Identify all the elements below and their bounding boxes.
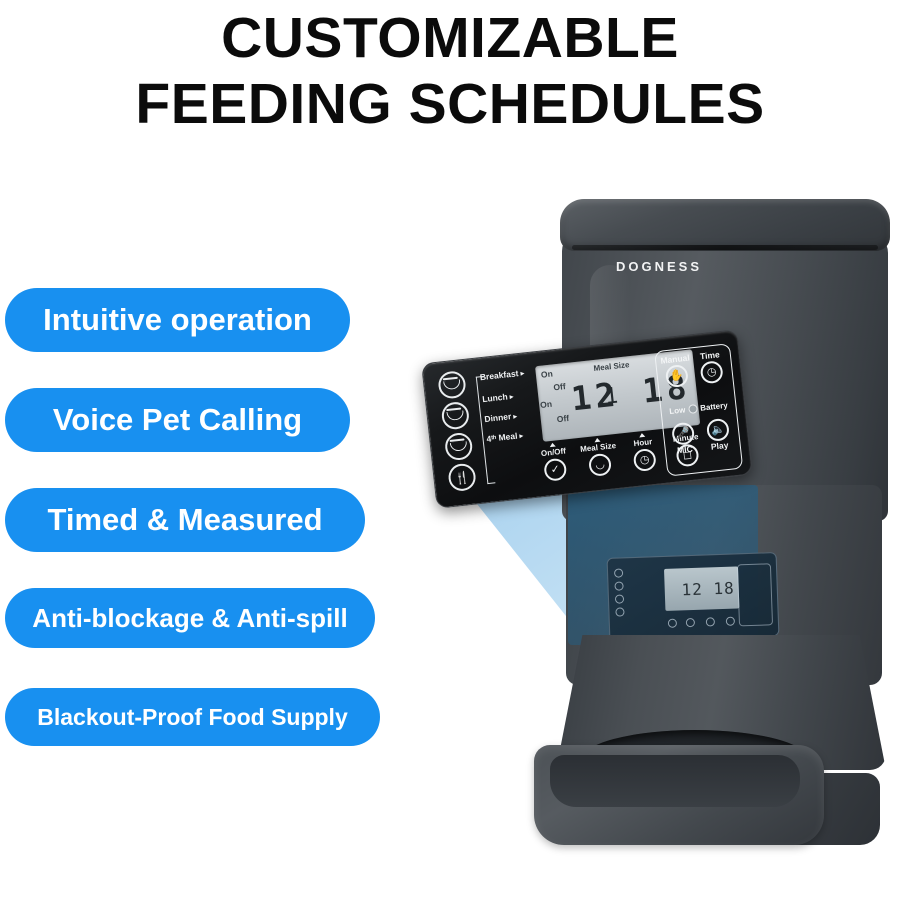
- manual-button[interactable]: Manual ✋: [658, 352, 695, 388]
- mini-lcd-screen: 12 18: [664, 566, 739, 611]
- lid-seam: [572, 245, 878, 250]
- meal-size-button[interactable]: Meal Size ◡: [574, 436, 624, 479]
- fork-knife-icon[interactable]: 🍴: [447, 462, 477, 492]
- lcd-on-1: On: [540, 368, 553, 379]
- page-title: CUSTOMIZABLE FEEDING SCHEDULES: [0, 8, 900, 135]
- lcd-off-1: Off: [553, 381, 566, 392]
- play-button[interactable]: 🔈 Play: [700, 416, 737, 452]
- mini-lcd-digits: 12 18: [681, 579, 735, 600]
- meal-size-marker-icon: [594, 438, 600, 443]
- right-control-cluster: Manual ✋ Time ◷ Low Battery 🎤 MIC 🔈: [654, 343, 743, 476]
- mini-onoff-button[interactable]: [668, 619, 677, 628]
- mini-right-cluster: [737, 563, 773, 626]
- feature-pill-label: Anti-blockage & Anti-spill: [32, 603, 347, 634]
- feature-pill-blackout-proof-food-supply: Blackout-Proof Food Supply: [5, 688, 380, 746]
- bowl-icon: ◡: [588, 453, 612, 477]
- hour-marker-icon: [639, 433, 645, 438]
- low-battery-low-label: Low: [669, 405, 686, 416]
- food-bowl-basin: [550, 755, 800, 807]
- onoff-marker-icon: [549, 443, 555, 448]
- lcd-on-2: On: [540, 399, 553, 410]
- onoff-button-label: On/Off: [530, 445, 577, 459]
- brand-logo: DOGNESS: [616, 259, 702, 274]
- mini-lunch-icon: [614, 581, 623, 590]
- feature-pill-label: Timed & Measured: [47, 502, 322, 538]
- feature-pill-anti-blockage-anti-spill: Anti-blockage & Anti-spill: [5, 588, 375, 648]
- meal-label-fourth-meal: 4ᵗʰ Meal: [486, 430, 524, 444]
- hour-button-label: Hour: [620, 436, 667, 450]
- hand-icon: ✋: [665, 364, 689, 388]
- hour-button[interactable]: Hour ◷: [619, 431, 669, 474]
- clock-icon: ◷: [633, 448, 657, 472]
- lunch-bowl-icon[interactable]: [440, 401, 470, 431]
- mic-button[interactable]: 🎤 MIC: [665, 420, 702, 456]
- clock-icon: ◷: [700, 360, 724, 384]
- mini-dinner-icon: [615, 594, 624, 603]
- low-battery-battery-label: Battery: [700, 401, 728, 413]
- lcd-off-2: Off: [556, 413, 569, 424]
- product-marketing-image: CUSTOMIZABLE FEEDING SCHEDULES Intuitive…: [0, 0, 900, 900]
- feature-pill-timed-measured: Timed & Measured: [5, 488, 365, 552]
- device-control-panel[interactable]: 12 18: [607, 552, 780, 642]
- headline-line-1: CUSTOMIZABLE: [0, 8, 900, 70]
- low-battery-indicator: Low Battery: [664, 400, 733, 416]
- mini-hour-button[interactable]: [706, 617, 715, 626]
- microphone-icon: 🎤: [671, 422, 695, 446]
- time-button-label: Time: [692, 349, 727, 363]
- feature-pill-label: Blackout-Proof Food Supply: [37, 704, 348, 731]
- feature-pill-voice-pet-calling: Voice Pet Calling: [5, 388, 350, 452]
- manual-button-label: Manual: [658, 352, 693, 366]
- feature-pill-intuitive-operation: Intuitive operation: [5, 288, 350, 352]
- mic-button-label: MIC: [667, 443, 702, 457]
- pet-feeder-product-image: DOGNESS 12 18: [520, 185, 900, 885]
- headline-line-2: FEEDING SCHEDULES: [0, 74, 900, 136]
- lcd-meal-size-label: Meal Size: [593, 360, 630, 373]
- check-circle-icon: ✓: [543, 458, 567, 482]
- play-button-label: Play: [702, 439, 737, 453]
- feeder-lid: [560, 199, 890, 251]
- dinner-bowl-icon[interactable]: [444, 432, 474, 462]
- feature-pill-label: Intuitive operation: [43, 302, 312, 338]
- meal-size-button-label: Meal Size: [575, 441, 622, 455]
- battery-led-icon: [688, 404, 698, 414]
- breakfast-bowl-icon[interactable]: [437, 370, 467, 400]
- mini-fourth-meal-icon: [615, 607, 624, 616]
- mini-breakfast-icon: [614, 568, 623, 577]
- time-button[interactable]: Time ◷: [692, 349, 729, 385]
- mini-minute-button[interactable]: [726, 617, 735, 626]
- meal-label-lunch: Lunch: [482, 391, 514, 404]
- onoff-button[interactable]: On/Off ✓: [530, 440, 580, 483]
- meal-label-dinner: Dinner: [484, 411, 518, 424]
- feature-pill-label: Voice Pet Calling: [53, 402, 302, 438]
- meal-label-breakfast: Breakfast: [479, 368, 525, 383]
- speaker-icon: 🔈: [706, 418, 730, 442]
- mini-meal-size-button[interactable]: [686, 618, 695, 627]
